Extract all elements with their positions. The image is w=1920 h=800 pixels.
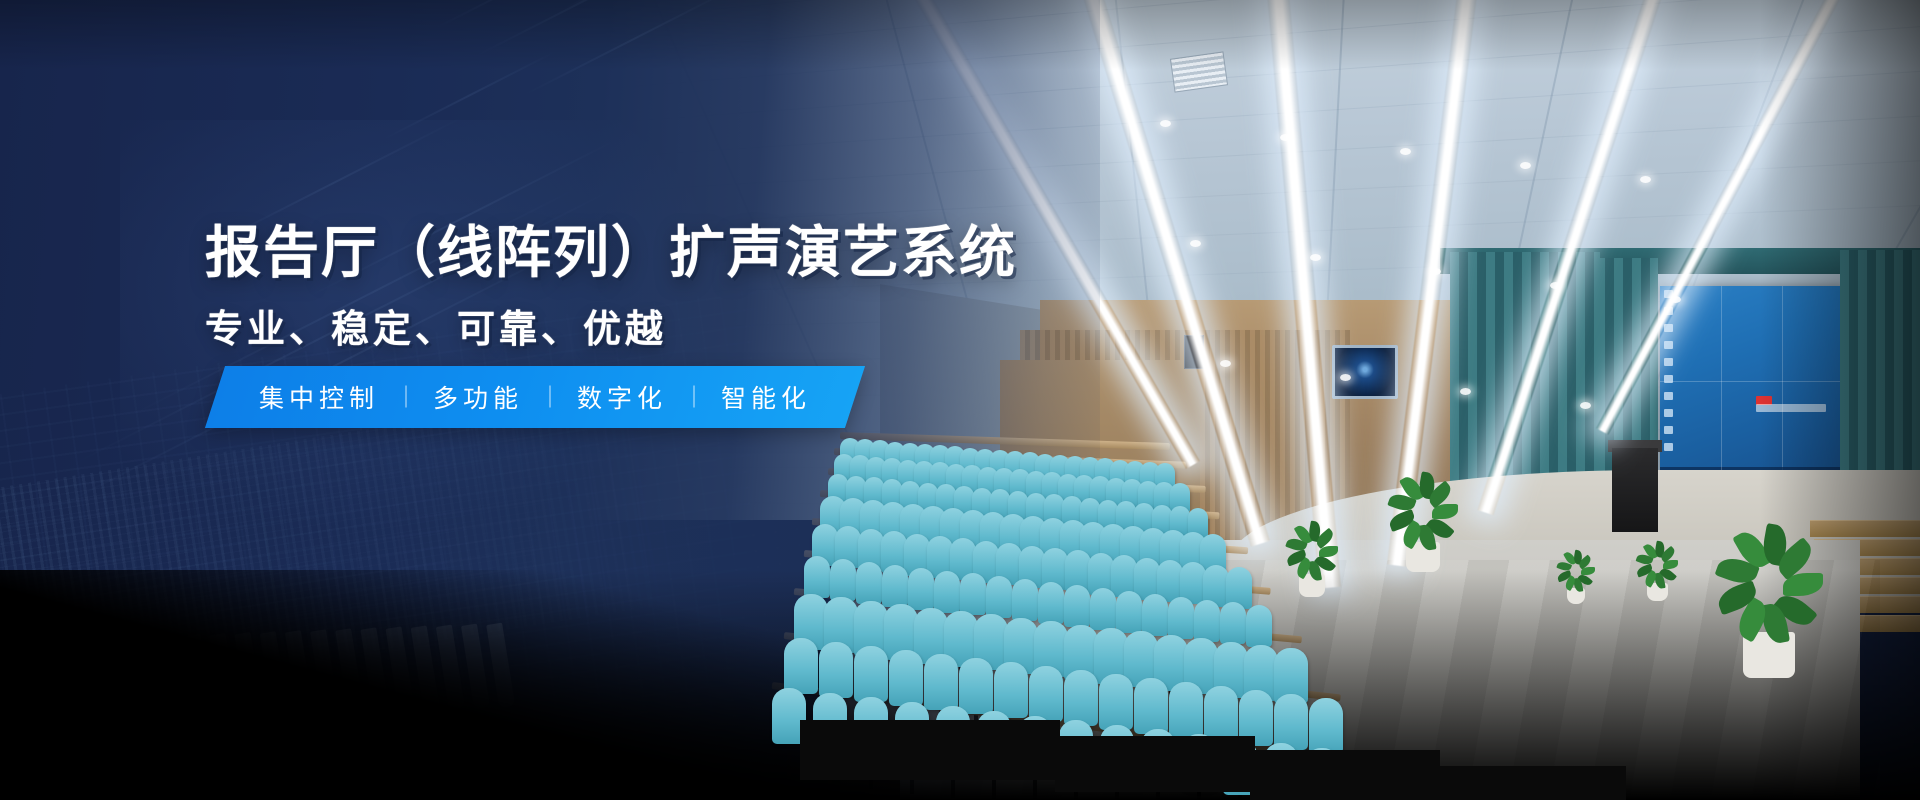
auditorium-seat (1194, 600, 1220, 642)
auditorium-seat (1220, 602, 1246, 644)
aisle-step-riser (1055, 736, 1255, 792)
auditorium-seat (1064, 670, 1098, 726)
auditorium-seat (960, 573, 986, 615)
auditorium-seat (1064, 585, 1090, 627)
potted-plant (1560, 548, 1593, 609)
tag-separator: ｜ (539, 380, 561, 412)
auditorium-seat (1012, 579, 1038, 621)
auditorium-seat (1090, 588, 1116, 630)
auditorium-seat (784, 638, 818, 694)
auditorium-seat (830, 559, 856, 601)
feature-tag-list: 集中控制｜多功能｜数字化｜智能化 (215, 366, 855, 428)
banner-subtitle: 专业、稳定、可靠、优越 (205, 298, 667, 353)
auditorium-seat (1099, 674, 1133, 730)
auditorium-seat (1168, 597, 1194, 639)
tag-separator: ｜ (395, 380, 417, 412)
auditorium-seat (986, 576, 1012, 618)
feature-tag[interactable]: 数字化 (561, 379, 683, 415)
auditorium-seat (1274, 694, 1308, 750)
auditorium-seat (1204, 686, 1238, 742)
aisle-step-riser (1250, 750, 1440, 800)
potted-plant (1724, 520, 1817, 691)
auditorium-seat (1029, 666, 1063, 722)
aisle-step-riser (800, 720, 1060, 780)
auditorium-seat (804, 556, 830, 598)
auditorium-seat (882, 565, 908, 607)
auditorium-seat (889, 650, 923, 706)
auditorium-seat (1134, 678, 1168, 734)
tag-separator: ｜ (683, 380, 705, 412)
auditorium-seat (1038, 582, 1064, 624)
feature-tag[interactable]: 多功能 (417, 379, 539, 415)
auditorium-seat (854, 646, 888, 702)
auditorium-seat (994, 662, 1028, 718)
potted-plant (1394, 470, 1454, 580)
auditorium-seat (908, 568, 934, 610)
auditorium-seat (1246, 605, 1272, 647)
banner-title: 报告厅（线阵列）扩声演艺系统 (205, 222, 1017, 284)
auditorium-seat (959, 658, 993, 714)
feature-tag[interactable]: 智能化 (705, 379, 827, 415)
auditorium-seat (1169, 682, 1203, 738)
aisle-step-riser (1436, 766, 1626, 800)
auditorium-seat (1116, 591, 1142, 633)
auditorium-seat (1142, 594, 1168, 636)
hero-banner: 报告厅（线阵列）扩声演艺系统 专业、稳定、可靠、优越 集中控制｜多功能｜数字化｜… (0, 0, 1920, 800)
potted-plant (1640, 540, 1676, 606)
auditorium-seat (1309, 698, 1343, 754)
auditorium-seat (924, 654, 958, 710)
potted-plant (1290, 520, 1335, 603)
auditorium-seat (856, 562, 882, 604)
auditorium-seat (819, 642, 853, 698)
auditorium-seat (934, 571, 960, 613)
feature-tag[interactable]: 集中控制 (243, 379, 395, 415)
